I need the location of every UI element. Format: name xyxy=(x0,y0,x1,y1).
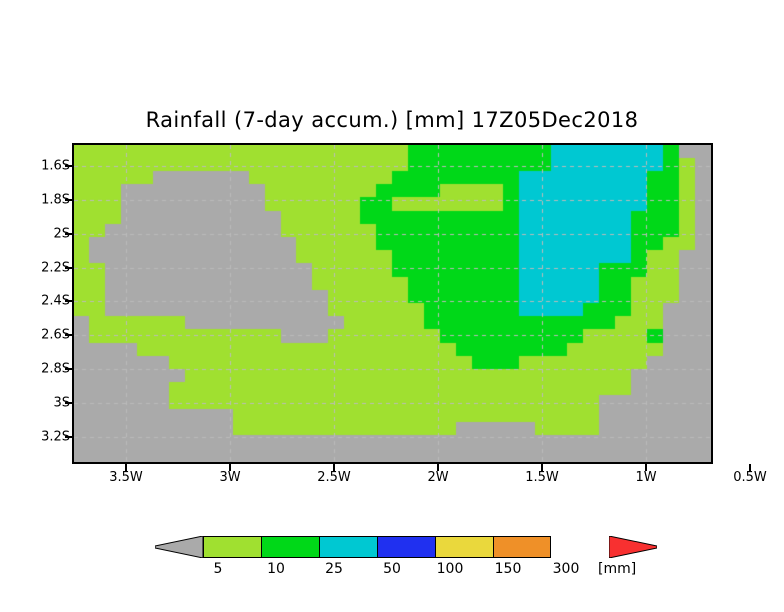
heatmap-canvas xyxy=(74,145,711,462)
colorbar-under-arrow-icon xyxy=(155,536,203,558)
colorbar-over-arrow-icon xyxy=(609,536,657,558)
colorbar-tick-label: 25 xyxy=(325,561,343,577)
y-axis-tick-mark xyxy=(65,199,72,201)
colorbar-segment-cyan xyxy=(319,536,377,558)
heatmap-plot-area xyxy=(72,143,713,464)
y-axis-tick-mark xyxy=(65,300,72,302)
y-axis-tick-mark xyxy=(65,165,72,167)
colorbar: 5102550100150300 [mm] xyxy=(0,528,784,588)
y-axis-tick-mark xyxy=(65,267,72,269)
x-axis-tick-mark xyxy=(749,464,751,471)
x-axis-tick-label: 2W xyxy=(427,470,448,485)
x-axis-tick-mark xyxy=(333,464,335,471)
x-axis-tick-label: 1.5W xyxy=(525,470,559,485)
x-axis-tick-mark xyxy=(437,464,439,471)
page-title: Rainfall (7-day accum.) [mm] 17Z05Dec201… xyxy=(0,108,784,132)
y-axis-tick-mark xyxy=(65,436,72,438)
x-axis-tick-label: 0.5W xyxy=(733,470,767,485)
colorbar-segments xyxy=(203,536,551,558)
colorbar-segment-yellow xyxy=(435,536,493,558)
colorbar-tick-label: 150 xyxy=(495,561,522,577)
x-axis-tick-mark xyxy=(125,464,127,471)
colorbar-segment-blue xyxy=(377,536,435,558)
y-axis-tick-mark xyxy=(65,368,72,370)
x-axis-tick-label: 3W xyxy=(219,470,240,485)
colorbar-tick-label: 100 xyxy=(437,561,464,577)
colorbar-unit-label: [mm] xyxy=(598,561,636,577)
x-axis-tick-label: 3.5W xyxy=(109,470,143,485)
colorbar-tick-label: 10 xyxy=(267,561,285,577)
y-axis-tick-mark xyxy=(65,402,72,404)
colorbar-tick-label: 300 xyxy=(553,561,580,577)
colorbar-tick-label: 50 xyxy=(383,561,401,577)
x-axis-tick-mark xyxy=(541,464,543,471)
x-axis-tick-mark xyxy=(645,464,647,471)
x-axis-tick-mark xyxy=(229,464,231,471)
colorbar-segment-green xyxy=(261,536,319,558)
colorbar-tick-label: 5 xyxy=(214,561,223,577)
y-axis-tick-mark xyxy=(65,334,72,336)
x-axis-tick-label: 1W xyxy=(635,470,656,485)
colorbar-segment-yellow-green xyxy=(203,536,261,558)
x-axis-tick-label: 2.5W xyxy=(317,470,351,485)
y-axis-tick-mark xyxy=(65,233,72,235)
colorbar-segment-orange xyxy=(493,536,551,558)
